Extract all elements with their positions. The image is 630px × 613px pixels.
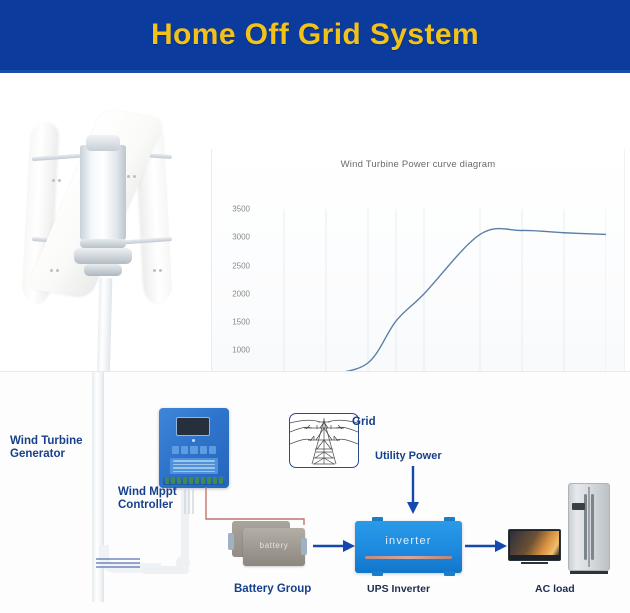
mppt-status-led-icon [192,439,195,442]
tv-stand [521,562,548,564]
y-tick-label: 1500 [232,318,250,327]
fridge-door-split [588,487,590,567]
turbine-bolt [58,179,61,182]
arrow-utility-to-inverter [405,466,421,516]
television-appliance [508,529,561,561]
utility-grid-box [289,413,359,468]
mppt-label-plate [170,458,218,474]
tv-screen [510,531,559,555]
turbine-bolt [133,175,136,178]
battery-label: battery [243,541,305,550]
page-root: Home Off Grid System [0,0,630,613]
inverter-foot [372,571,383,576]
label-ups-inverter: UPS Inverter [367,583,430,595]
page-header: Home Off Grid System [0,0,630,70]
turbine-bolt [50,269,53,272]
page-title: Home Off Grid System [151,18,479,52]
turbine-hub-plate [80,239,126,248]
inverter-label: inverter [355,535,462,547]
label-mppt-line1: Wind Mppt [118,486,177,499]
refrigerator-appliance [568,483,610,571]
arrow-inverter-to-load [465,539,509,553]
label-battery-group: Battery Group [234,583,311,596]
fridge-base [570,571,608,574]
top-section: Wind Turbine Power curve diagram 0500100… [0,73,630,371]
mppt-button[interactable] [181,446,188,454]
label-utility-power: Utility Power [375,450,442,463]
y-tick-label: 1000 [232,346,250,355]
battery-unit-front: battery [243,528,305,566]
battery-handle [228,533,234,550]
inverter-stripe [365,556,452,559]
y-tick-label: 3000 [232,233,250,242]
fridge-control-panel [572,503,585,510]
cable-mppt-to-battery [200,487,310,525]
label-wind-mppt-controller: Wind Mppt Controller [118,486,177,512]
turbine-bolt [153,269,156,272]
y-tick-label: 2000 [232,289,250,298]
ups-inverter-device[interactable]: inverter [355,521,462,573]
mppt-controller-device[interactable] [159,408,229,488]
mppt-button[interactable] [190,446,197,454]
mppt-button[interactable] [200,446,207,454]
power-tower-icon [290,414,358,467]
chart-title: Wind Turbine Power curve diagram [212,159,624,170]
inverter-foot [444,571,455,576]
turbine-hub-collar [74,248,132,264]
y-tick-label: 2500 [232,261,250,270]
mppt-lcd-screen [176,417,210,436]
turbine-pole [97,278,113,383]
mppt-button[interactable] [172,446,179,454]
label-wind-turbine-generator: Wind Turbine Generator [10,435,83,461]
turbine-bolt [159,269,162,272]
label-grid: Grid [352,416,376,429]
turbine-hub-top [86,135,120,151]
turbine-hub-base [84,264,122,276]
y-tick-label: 3500 [232,205,250,214]
label-turbine-line2: Generator [10,448,83,461]
wind-turbine-image [10,83,205,373]
turbine-bolt [52,179,55,182]
battery-handle [301,538,307,555]
turbine-cable-lines [96,557,146,571]
turbine-generator-body [80,145,126,240]
label-turbine-line1: Wind Turbine [10,435,83,448]
mppt-output-wires [183,488,197,514]
mppt-button-row[interactable] [172,446,216,454]
label-mppt-line2: Controller [118,499,177,512]
turbine-bolt [56,269,59,272]
mppt-terminal-block [163,476,225,485]
cable-bend [176,556,190,570]
fridge-handle-right [591,494,594,560]
arrow-battery-to-inverter [313,539,357,553]
turbine-bolt [127,175,130,178]
mppt-button[interactable] [209,446,216,454]
label-ac-load: AC load [535,583,575,595]
